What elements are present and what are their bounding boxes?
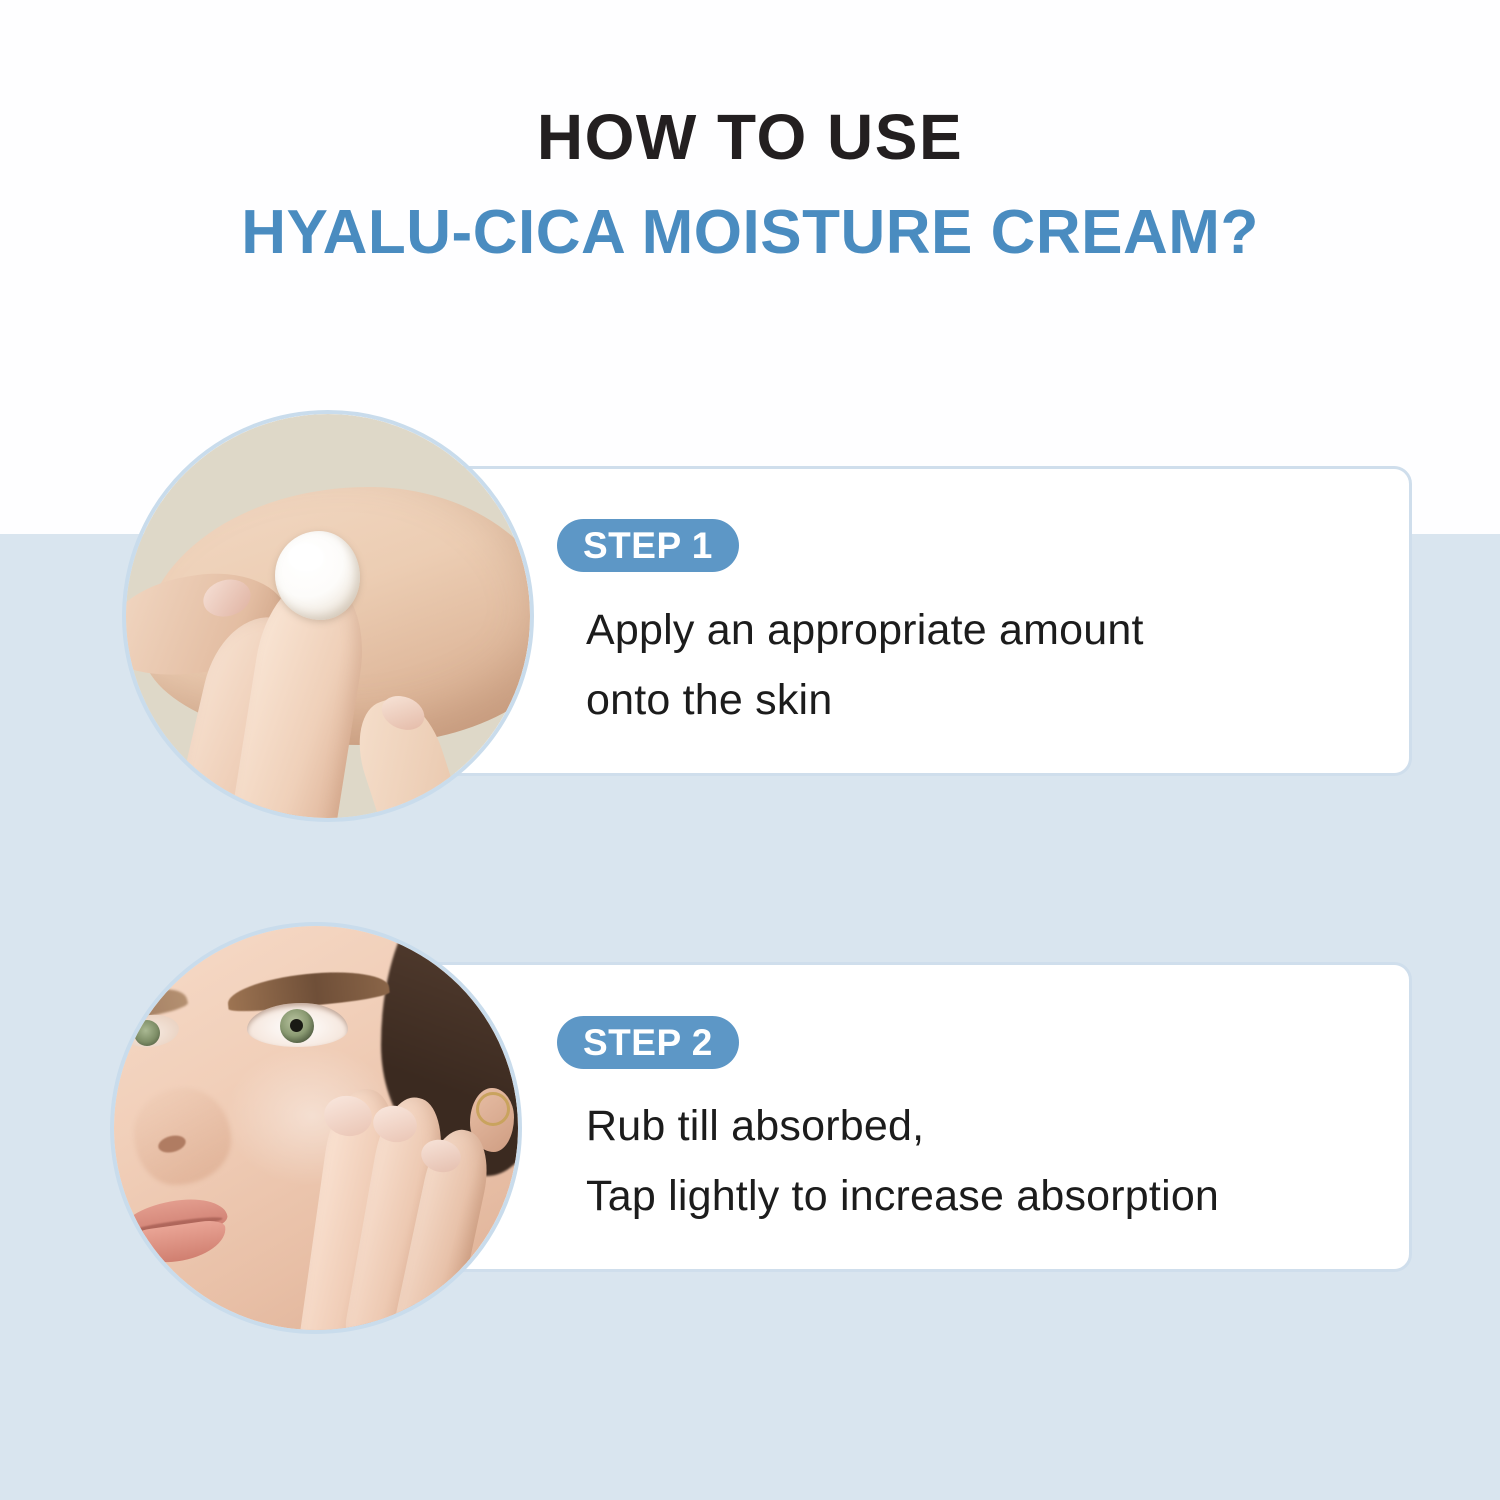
- cream-highlight: [288, 543, 324, 571]
- cream-dollop: [275, 531, 360, 620]
- step-1-description: Apply an appropriate amount onto the ski…: [586, 596, 1366, 735]
- hand-cream-illustration: [126, 414, 530, 818]
- earring-icon: [476, 1092, 510, 1126]
- step-2-badge: STEP 2: [557, 1016, 739, 1069]
- step-2-photo: [110, 922, 522, 1334]
- step-1-photo: [122, 410, 534, 822]
- step-2-description: Rub till absorbed, Tap lightly to increa…: [586, 1092, 1386, 1231]
- face-application-illustration: [114, 926, 518, 1330]
- page-subtitle: HYALU-CICA MOISTURE CREAM?: [0, 200, 1500, 265]
- infographic-root: HOW TO USE HYALU-CICA MOISTURE CREAM? ST…: [0, 0, 1500, 1500]
- page-title: HOW TO USE: [0, 104, 1500, 171]
- pupil-shape: [290, 1019, 303, 1032]
- step-1-badge: STEP 1: [557, 519, 739, 572]
